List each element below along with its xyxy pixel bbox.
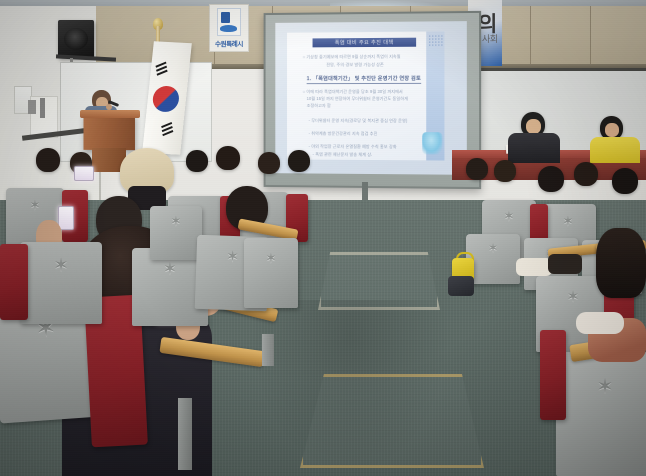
audience-clothing [516, 258, 552, 276]
slide-line: 조정하고자 함 [307, 103, 376, 109]
auditorium-photo: 수원특례시 의 사회 폭염 대비 주요 추진 대책 [0, 0, 646, 476]
smartphone-screen[interactable] [74, 166, 94, 181]
city-sign: 수원특례시 [209, 4, 249, 52]
cabinet-seam [590, 6, 591, 68]
audience-head [36, 148, 60, 172]
wall-notice-detail [40, 98, 45, 118]
panelist-face [526, 119, 541, 134]
speaker-cone [64, 28, 88, 50]
city-emblem-icon [217, 8, 241, 36]
seat-cushion [0, 244, 28, 320]
seat-star-emblem: ✶ [597, 377, 614, 397]
audience-head [574, 162, 598, 186]
seat-star-emblem: ✶ [488, 242, 498, 254]
city-sign-label: 수원특례시 [215, 38, 243, 48]
cabinet-seam [530, 6, 531, 68]
slide-line: - 야외 작업장 근로자 온열질환 예방 수칙 홍보 강화 [309, 144, 427, 151]
aisle-shadow [250, 300, 450, 476]
seat-star-emblem: ✶ [266, 251, 277, 264]
slide-title: 폭염 대비 주요 추진 대책 [316, 38, 412, 47]
audience-head [494, 160, 516, 182]
audience-head [466, 158, 488, 180]
seat-star-emblem: ✶ [226, 249, 239, 264]
smartphone-screen[interactable] [58, 206, 74, 230]
seat-cushion [540, 330, 566, 420]
auditorium-seat[interactable]: ✶ [20, 242, 102, 324]
slide-line: - 취약계층 방문건강관리 지속 점검 추진 [309, 131, 425, 137]
seat-leg [262, 334, 274, 366]
auditorium-seat[interactable]: ✶ [150, 206, 202, 260]
screen-stand [362, 182, 368, 202]
audience-head [596, 228, 646, 298]
slide-line: - 폭염 관련 재난문자 발송 체계 상시 유지 [313, 152, 372, 158]
audience-clothing [548, 254, 582, 274]
seat-star-emblem: ✶ [163, 262, 176, 278]
slide-line: 10월 15일 까지 연장하여 무더위쉼터 운영기간도 동일하게 [307, 96, 427, 102]
panelist-body [590, 137, 640, 163]
presentation-slide: 폭염 대비 주요 추진 대책 ○ 기상청 중기예보에 따르면 9월 상순까지 폭… [287, 31, 444, 160]
slide-line: - 무더위쉼터 운영 지속(경로당 및 복지관 중심 연장 운영) [309, 118, 427, 124]
podium [83, 114, 134, 150]
dot-pattern-decoration [428, 34, 442, 46]
seat-star-emblem: ✶ [504, 210, 515, 223]
auditorium-seat[interactable]: ✶ [556, 352, 646, 476]
taeguk-symbol [149, 82, 183, 116]
podium-top [80, 110, 140, 118]
audience-head [612, 168, 638, 194]
seat-star-emblem: ✶ [53, 256, 68, 274]
seat-star-emblem: ✶ [567, 290, 580, 305]
slide-line: 전망, 주의·경보 발령 가능성 상존 [326, 62, 422, 68]
seat-star-emblem: ✶ [171, 215, 182, 228]
seat-star-emblem: ✶ [563, 214, 574, 227]
slide-line: ○ 기상청 중기예보에 따르면 9월 상순까지 폭염이 지속될 [303, 54, 422, 61]
seat-leg [178, 398, 192, 470]
audience-head [538, 166, 564, 192]
auditorium-seat[interactable]: ✶ [466, 234, 520, 284]
slide-heading: 1. 「폭염대책기간」 및 추진단 운영기간 연장 검토 [307, 75, 421, 84]
audience-clothing [576, 312, 624, 334]
audience-head [288, 150, 310, 172]
panelist-face [605, 123, 619, 137]
audience-head [216, 146, 240, 170]
auditorium-seat[interactable]: ✶ [244, 238, 298, 308]
audience-head [258, 152, 280, 174]
dark-backpack[interactable] [448, 276, 474, 296]
wall-notice-detail [28, 100, 36, 114]
banner-text-secondary: 사회 [482, 32, 498, 45]
panelist-body [508, 133, 560, 163]
audience-head [186, 150, 208, 172]
slide-line: ○ 이에 따라 폭염대책기간 운영을 당초 9월 30일 까지에서 [303, 89, 427, 95]
seat-star-emblem: ✶ [30, 198, 41, 211]
